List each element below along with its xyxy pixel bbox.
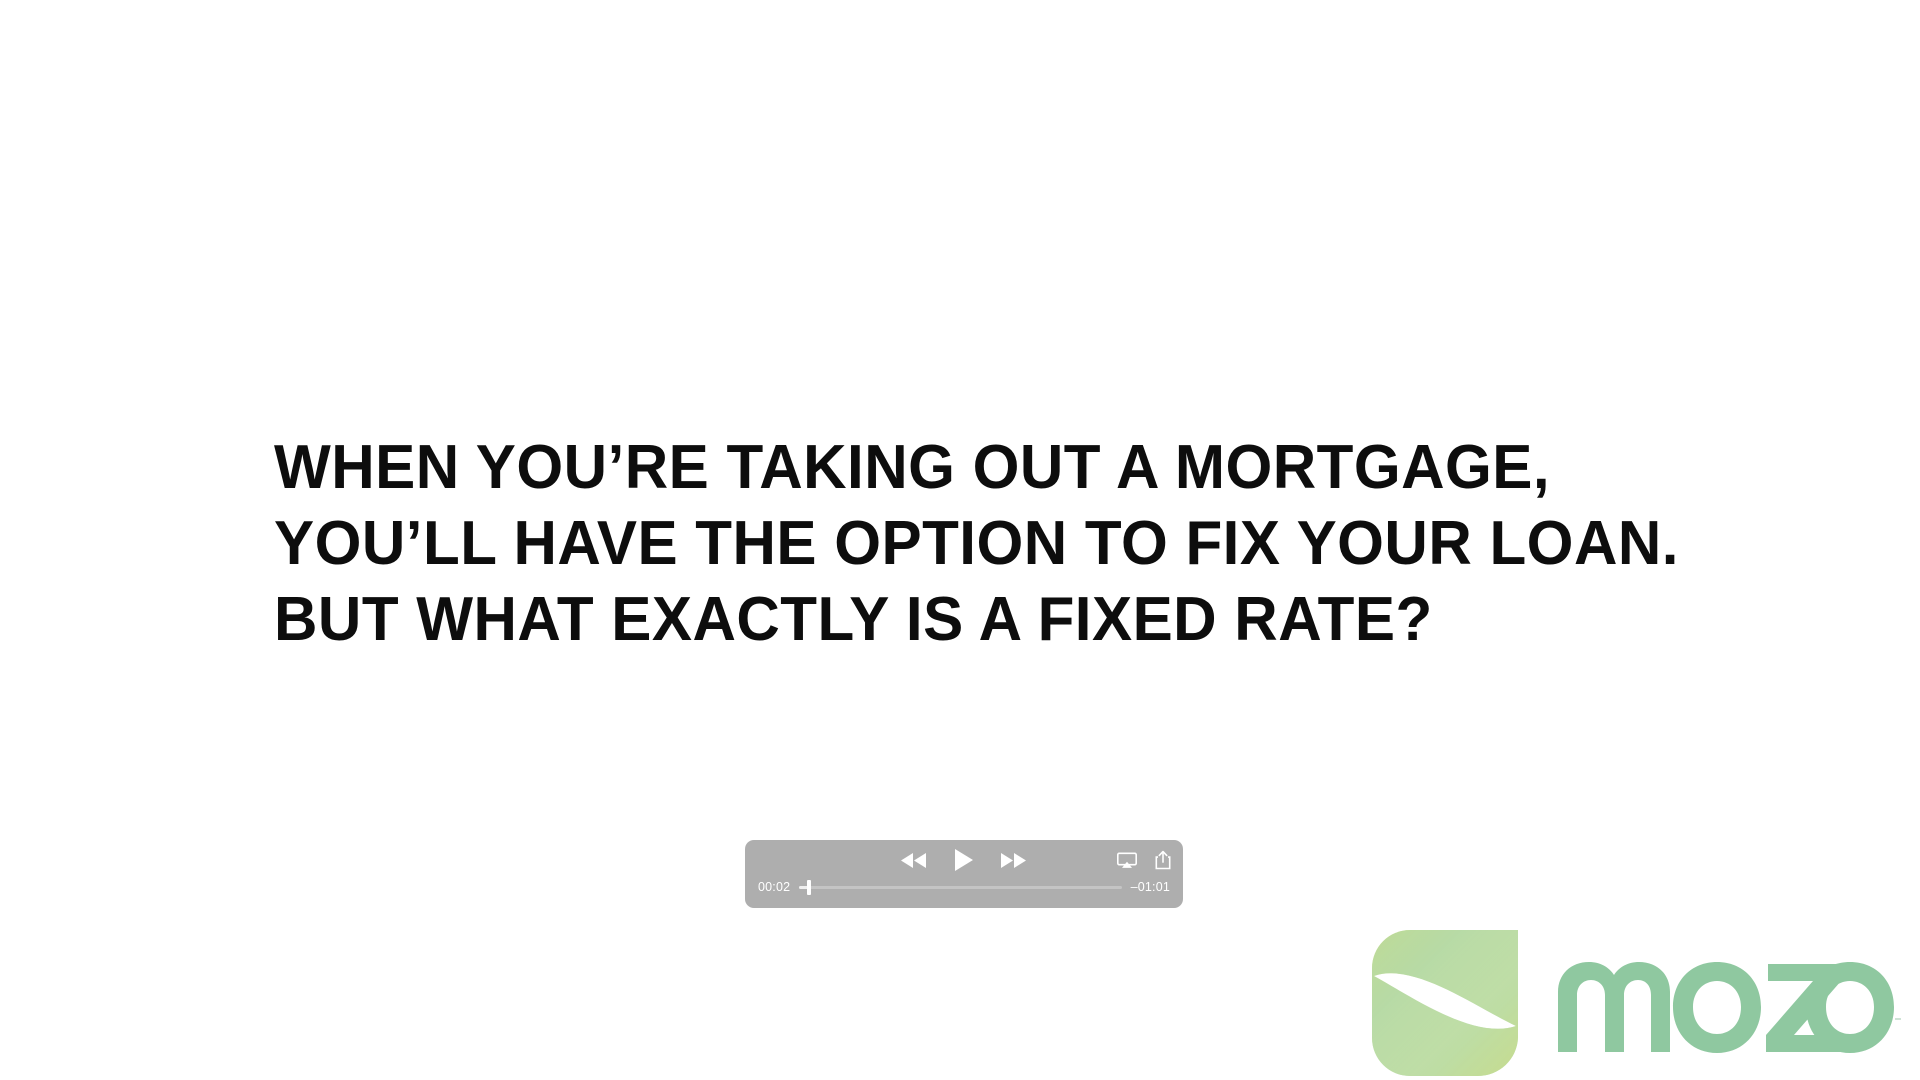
mozo-logo <box>1370 925 1915 1080</box>
share-button[interactable] <box>1155 851 1171 870</box>
scrubber-row: 00:02 –01:01 <box>745 880 1183 900</box>
remaining-time-label: –01:01 <box>1131 880 1170 894</box>
mozo-leaf-icon <box>1370 928 1520 1078</box>
fast-forward-icon <box>1001 853 1027 868</box>
headline-line-2: YOU’LL HAVE THE OPTION TO FIX YOUR LOAN. <box>274 506 1632 582</box>
rewind-icon <box>901 853 927 868</box>
fast-forward-button[interactable] <box>1001 853 1027 868</box>
transport-row <box>745 840 1183 880</box>
transport-center-group <box>901 849 1027 871</box>
airplay-button[interactable] <box>1117 852 1137 868</box>
scrubber-handle[interactable] <box>807 880 811 895</box>
rewind-button[interactable] <box>901 853 927 868</box>
airplay-icon <box>1117 852 1137 868</box>
mozo-wordmark <box>1552 948 1902 1058</box>
headline-line-1: WHEN YOU’RE TAKING OUT A MORTGAGE, <box>274 430 1632 506</box>
headline-line-3: BUT WHAT EXACTLY IS A FIXED RATE? <box>274 582 1632 658</box>
share-icon <box>1155 851 1171 870</box>
caption-headline: WHEN YOU’RE TAKING OUT A MORTGAGE, YOU’L… <box>274 430 1674 658</box>
video-player-controls[interactable]: 00:02 –01:01 <box>745 840 1183 908</box>
elapsed-time-label: 00:02 <box>758 880 790 894</box>
play-button[interactable] <box>955 849 973 871</box>
play-icon <box>955 849 973 871</box>
transport-right-group <box>1117 851 1171 870</box>
scrubber-track <box>799 886 1121 889</box>
progress-scrubber[interactable] <box>799 880 1121 894</box>
video-frame: WHEN YOU’RE TAKING OUT A MORTGAGE, YOU’L… <box>0 0 1920 1080</box>
